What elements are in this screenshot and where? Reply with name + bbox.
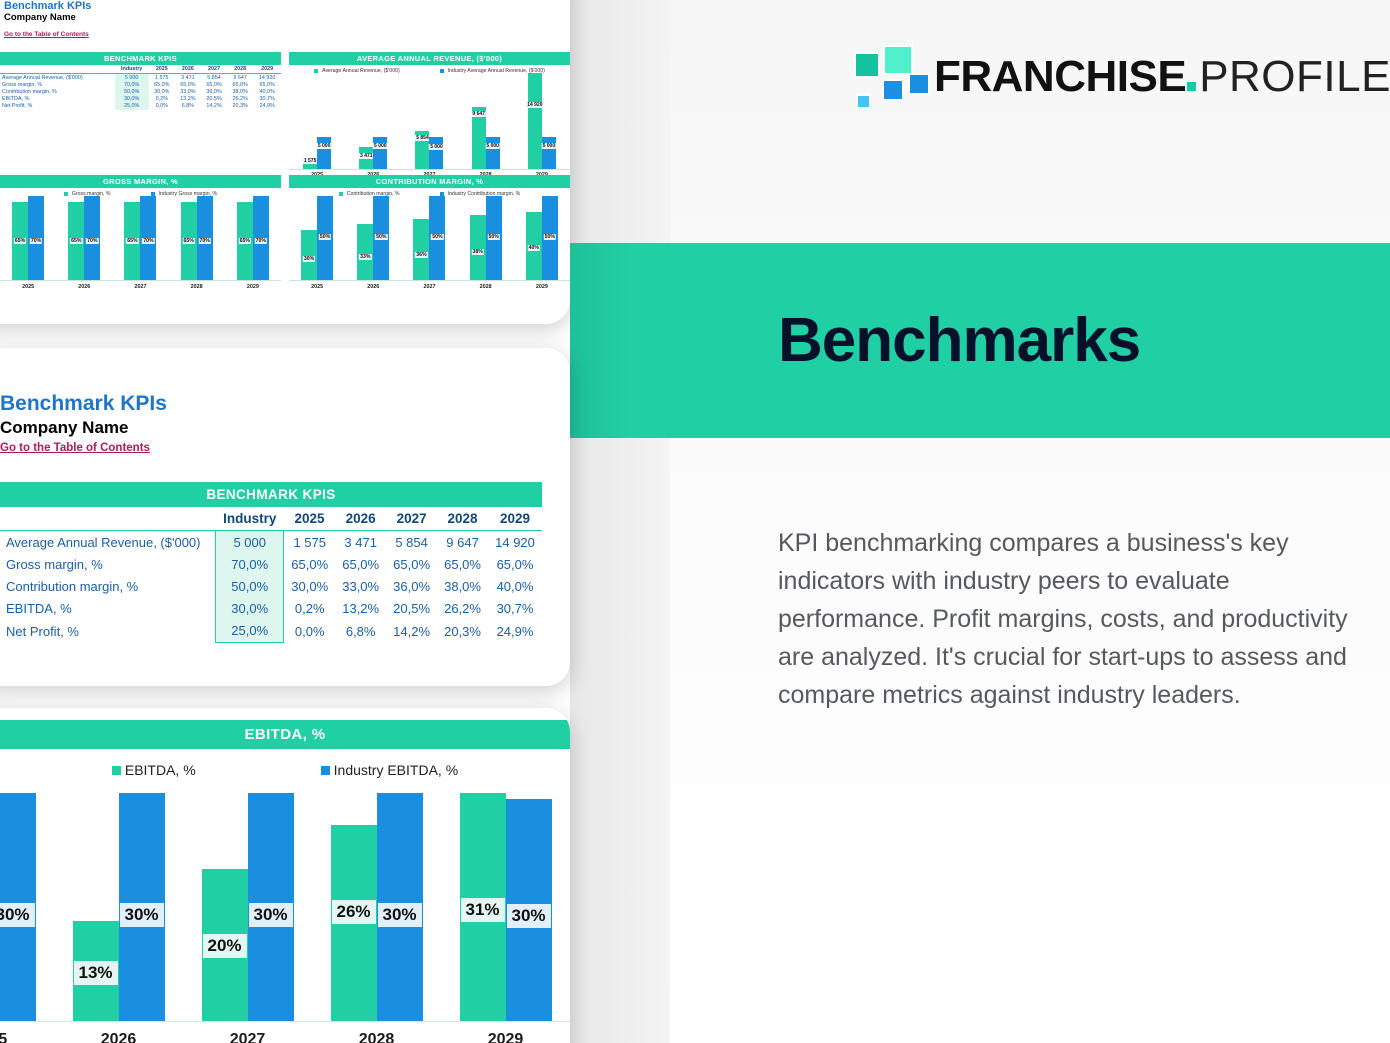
cell-2028: 65,0% <box>437 553 488 575</box>
chart-band-title: EBITDA, % <box>0 720 570 749</box>
sheet-subtitle: Company Name <box>0 418 542 438</box>
page-title: Benchmarks <box>778 305 1140 376</box>
kpi-table: Industry 2025 2026 2027 2028 2029 Averag… <box>0 507 542 643</box>
logo-light-text: PROFILES <box>1199 52 1390 101</box>
col-2026: 2026 <box>335 507 386 531</box>
table-header-row: Industry 2025 2026 2027 2028 2029 <box>0 507 542 531</box>
table-row: Contribution margin, %50,0%30,0%33,0%36,… <box>0 88 281 95</box>
table-row: Gross margin, % 70,0% 65,0% 65,0% 65,0% … <box>0 553 542 575</box>
cell-industry: 50,0% <box>216 575 284 597</box>
table-row: Average Annual Revenue, ($'000)5 0001 57… <box>0 74 281 82</box>
sheet-subtitle: Company Name <box>4 12 566 23</box>
cell-2029: 40,0% <box>488 575 542 597</box>
chart-group-2025: 30% <box>0 793 54 1021</box>
kpi-table-small: Industry 2025 2026 2027 2028 2029 Averag… <box>0 65 281 110</box>
sheet-title: Benchmark KPIs <box>4 0 566 12</box>
cell-2026: 33,0% <box>335 575 386 597</box>
panel-chart-gross-margin-small: GROSS MARGIN, % Gross margin, % Industry… <box>0 175 281 290</box>
chart-ebitda: 30% 13% 30% 20% 30% 26% 30% 31% 30% <box>0 794 570 1022</box>
row-label: Gross margin, % <box>0 553 216 575</box>
cell-2027: 65,0% <box>386 553 437 575</box>
col-2025: 2025 <box>149 65 175 74</box>
cell-2028: 38,0% <box>437 575 488 597</box>
panel-chart-contribution-margin-small: CONTRIBUTION MARGIN, % Contribution marg… <box>289 175 570 290</box>
col-2027: 2027 <box>201 65 227 74</box>
chart-group-2029: 31% 30% <box>441 793 570 1021</box>
chart-group-2028: 26% 30% <box>312 793 441 1021</box>
table-row: Average Annual Revenue, ($'000) 5 000 1 … <box>0 531 542 554</box>
col-industry: Industry <box>115 65 149 74</box>
logo-squares-icon <box>852 44 918 110</box>
logo-bold-text: FRANCHISE <box>934 52 1186 101</box>
brand-logo: FRANCHISEPROFILES <box>852 44 1390 110</box>
table-row: Net Profit, % 25,0% 0,0% 6,8% 14,2% 20,3… <box>0 620 542 643</box>
chart-group-2027: 20% 30% <box>183 793 312 1021</box>
table-band-title: BENCHMARK KPIS <box>0 482 542 507</box>
cell-2028: 20,3% <box>437 620 488 643</box>
cell-2025: 0,0% <box>284 620 335 643</box>
table-row: Gross margin, %70,0%65,0%65,0%65,0%65,0%… <box>0 81 281 88</box>
col-2027: 2027 <box>386 507 437 531</box>
row-label: Contribution margin, % <box>0 575 216 597</box>
legend-swatch-icon <box>112 766 121 775</box>
cell-2029: 30,7% <box>488 598 542 620</box>
table-row: Net Profit, %25,0%0,0%6,8%14,2%20,3%24,9… <box>0 103 281 110</box>
table-row: EBITDA, %30,0%0,2%13,2%20,5%26,2%30,7% <box>0 96 281 103</box>
cell-2028: 26,2% <box>437 598 488 620</box>
col-2028: 2028 <box>227 65 253 74</box>
table-row: Contribution margin, % 50,0% 30,0% 33,0%… <box>0 575 542 597</box>
background-band-white <box>670 0 1390 1043</box>
col-2029: 2029 <box>253 65 281 74</box>
background-band-gray <box>570 0 670 1043</box>
col-blank <box>0 507 216 531</box>
cell-2026: 6,8% <box>335 620 386 643</box>
cell-industry: 5 000 <box>216 531 284 554</box>
col-blank <box>0 65 115 74</box>
cell-2026: 13,2% <box>335 598 386 620</box>
legend-swatch-icon <box>321 766 330 775</box>
logo-wordmark: FRANCHISEPROFILES <box>934 55 1390 99</box>
toc-link[interactable]: Go to the Table of Contents <box>4 31 89 38</box>
panel-title: BENCHMARK KPIS <box>0 52 281 65</box>
table-row: EBITDA, % 30,0% 0,2% 13,2% 20,5% 26,2% 3… <box>0 598 542 620</box>
chart-revenue-small: 1 5755 000 3 4715 000 5 8545 000 9 6475 … <box>289 74 570 178</box>
cell-2029: 24,9% <box>488 620 542 643</box>
sheet-header-small: Benchmark KPIs Company Name Go to the Ta… <box>0 0 570 41</box>
panel-title: AVERAGE ANNUAL REVENUE, ($'000) <box>289 52 570 65</box>
cell-2025: 30,0% <box>284 575 335 597</box>
row-label: Net Profit, % <box>0 620 216 643</box>
legend-swatch-icon <box>440 69 444 73</box>
description-paragraph: KPI benchmarking compares a business's k… <box>778 524 1358 714</box>
panel-title: GROSS MARGIN, % <box>0 175 281 188</box>
legend-swatch-icon <box>314 69 318 73</box>
cell-2026: 3 471 <box>335 531 386 554</box>
row-label: EBITDA, % <box>0 598 216 620</box>
chart-x-axis: 2025 2026 2027 2028 2029 <box>0 1031 570 1043</box>
toc-link[interactable]: Go to the Table of Contents <box>0 442 150 454</box>
cell-2028: 9 647 <box>437 531 488 554</box>
sheet-title: Benchmark KPIs <box>0 392 542 416</box>
chart-group-2026: 13% 30% <box>54 793 183 1021</box>
cell-2025: 65,0% <box>284 553 335 575</box>
panel-chart-revenue-small: AVERAGE ANNUAL REVENUE, ($'000) Average … <box>289 52 570 178</box>
col-industry: Industry <box>216 507 284 531</box>
table-header-row: Industry 2025 2026 2027 2028 2029 <box>0 65 281 74</box>
cell-2025: 1 575 <box>284 531 335 554</box>
legend-label: EBITDA, % <box>125 762 196 778</box>
cell-2027: 20,5% <box>386 598 437 620</box>
chart-legend: EBITDA, % Industry EBITDA, % <box>0 762 570 778</box>
legend-label: Industry EBITDA, % <box>334 762 458 778</box>
screenshot-card-kpi-table: Benchmark KPIs Company Name Go to the Ta… <box>0 348 570 686</box>
cell-2029: 14 920 <box>488 531 542 554</box>
cell-2027: 5 854 <box>386 531 437 554</box>
col-2028: 2028 <box>437 507 488 531</box>
cell-2026: 65,0% <box>335 553 386 575</box>
cell-industry: 30,0% <box>216 598 284 620</box>
cell-2029: 65,0% <box>488 553 542 575</box>
screenshot-card-overview: Benchmark KPIs Company Name Go to the Ta… <box>0 0 570 324</box>
legend-swatch-icon <box>339 192 343 196</box>
col-2026: 2026 <box>175 65 201 74</box>
cell-industry: 25,0% <box>216 620 284 643</box>
cell-industry: 70,0% <box>216 553 284 575</box>
row-label: Average Annual Revenue, ($'000) <box>0 531 216 554</box>
logo-dot-icon <box>1187 82 1196 91</box>
col-2029: 2029 <box>488 507 542 531</box>
screenshot-card-ebitda-chart: EBITDA, % EBITDA, % Industry EBITDA, % 3… <box>0 708 570 1043</box>
panel-title: CONTRIBUTION MARGIN, % <box>289 175 570 188</box>
cell-2027: 36,0% <box>386 575 437 597</box>
chart-gross-margin-small: 65%70% 65%70% 65%70% 65%70% 65%70% 2025 … <box>0 197 281 290</box>
panel-kpi-table-small: BENCHMARK KPIS Industry 2025 2026 2027 2… <box>0 52 281 110</box>
chart-contribution-margin-small: 30%50% 33%50% 36%50% 38%50% 40%50% 2025 … <box>289 197 570 290</box>
cell-2027: 14,2% <box>386 620 437 643</box>
cell-2025: 0,2% <box>284 598 335 620</box>
col-2025: 2025 <box>284 507 335 531</box>
